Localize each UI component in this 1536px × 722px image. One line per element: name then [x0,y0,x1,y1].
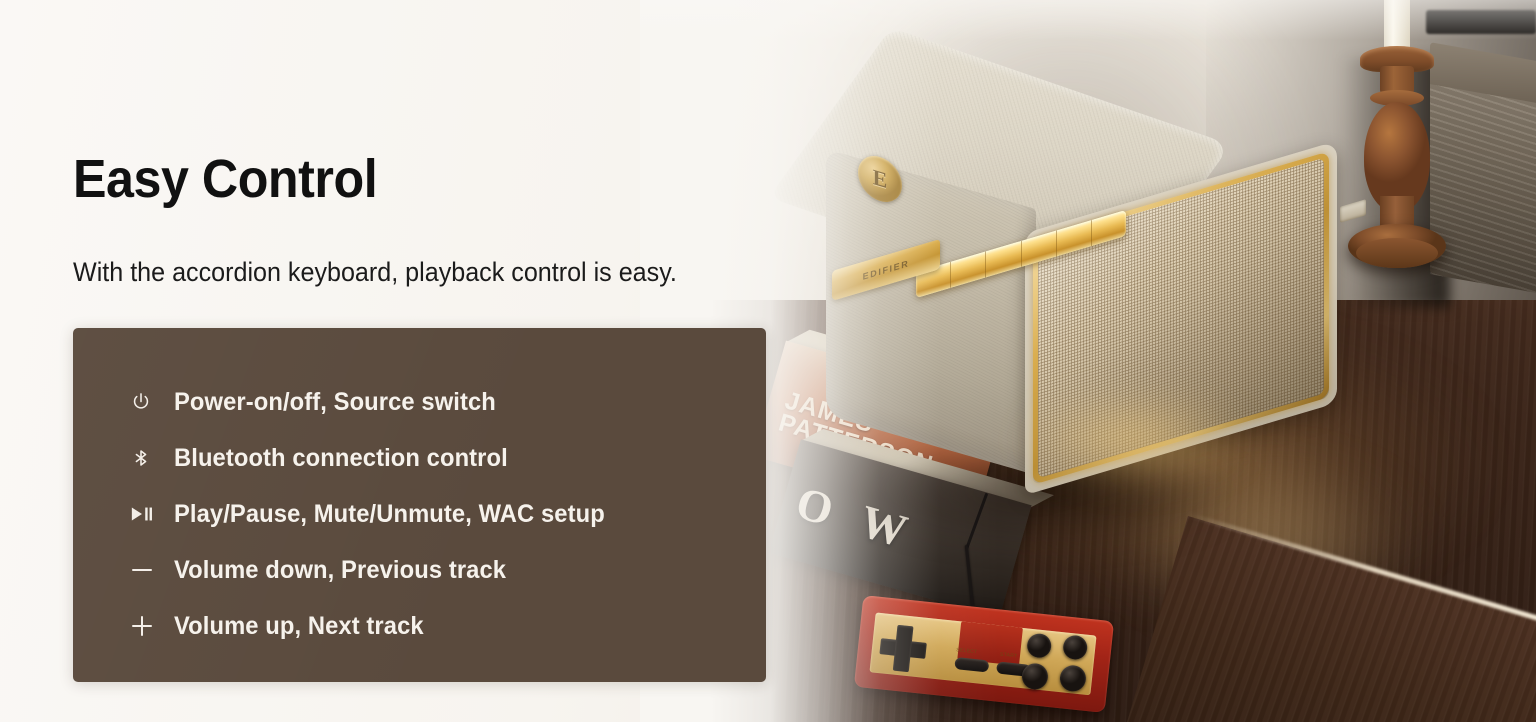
minus-icon [130,560,174,580]
list-item-label: Bluetooth connection control [174,444,508,473]
candle-wax [1384,0,1410,50]
plus-icon [130,615,174,637]
dpad-icon[interactable] [878,623,929,674]
list-item-label: Volume down, Previous track [174,556,506,585]
page-title: Easy Control [73,152,377,206]
list-item: Bluetooth connection control [73,430,766,486]
play-pause-icon [130,504,174,524]
feature-list: Power-on/off, Source switch Bluetooth co… [73,374,766,654]
speaker-side-tag [1340,199,1366,223]
power-icon [130,391,174,413]
dpad-vertical [893,625,914,672]
list-item-label: Play/Pause, Mute/Unmute, WAC setup [174,500,605,529]
edifier-speaker: E EDIFIER [820,45,1380,545]
list-item: Volume down, Previous track [73,542,766,598]
promo-banner: THE POST JAMES PATTERSON O W E [0,0,1536,722]
page-subtitle: With the accordion keyboard, playback co… [73,256,677,288]
list-item: Volume up, Next track [73,598,766,654]
list-item: Power-on/off, Source switch [73,374,766,430]
feature-list-panel: Power-on/off, Source switch Bluetooth co… [73,328,766,682]
list-item: Play/Pause, Mute/Unmute, WAC setup [73,486,766,542]
emblem-letter: E [873,166,888,192]
list-item-label: Power-on/off, Source switch [174,388,496,417]
bluetooth-icon [130,447,174,469]
brand-nameplate-label: EDIFIER [863,258,910,282]
list-item-label: Volume up, Next track [174,612,424,641]
text-content: Easy Control With the accordion keyboard… [0,0,800,722]
